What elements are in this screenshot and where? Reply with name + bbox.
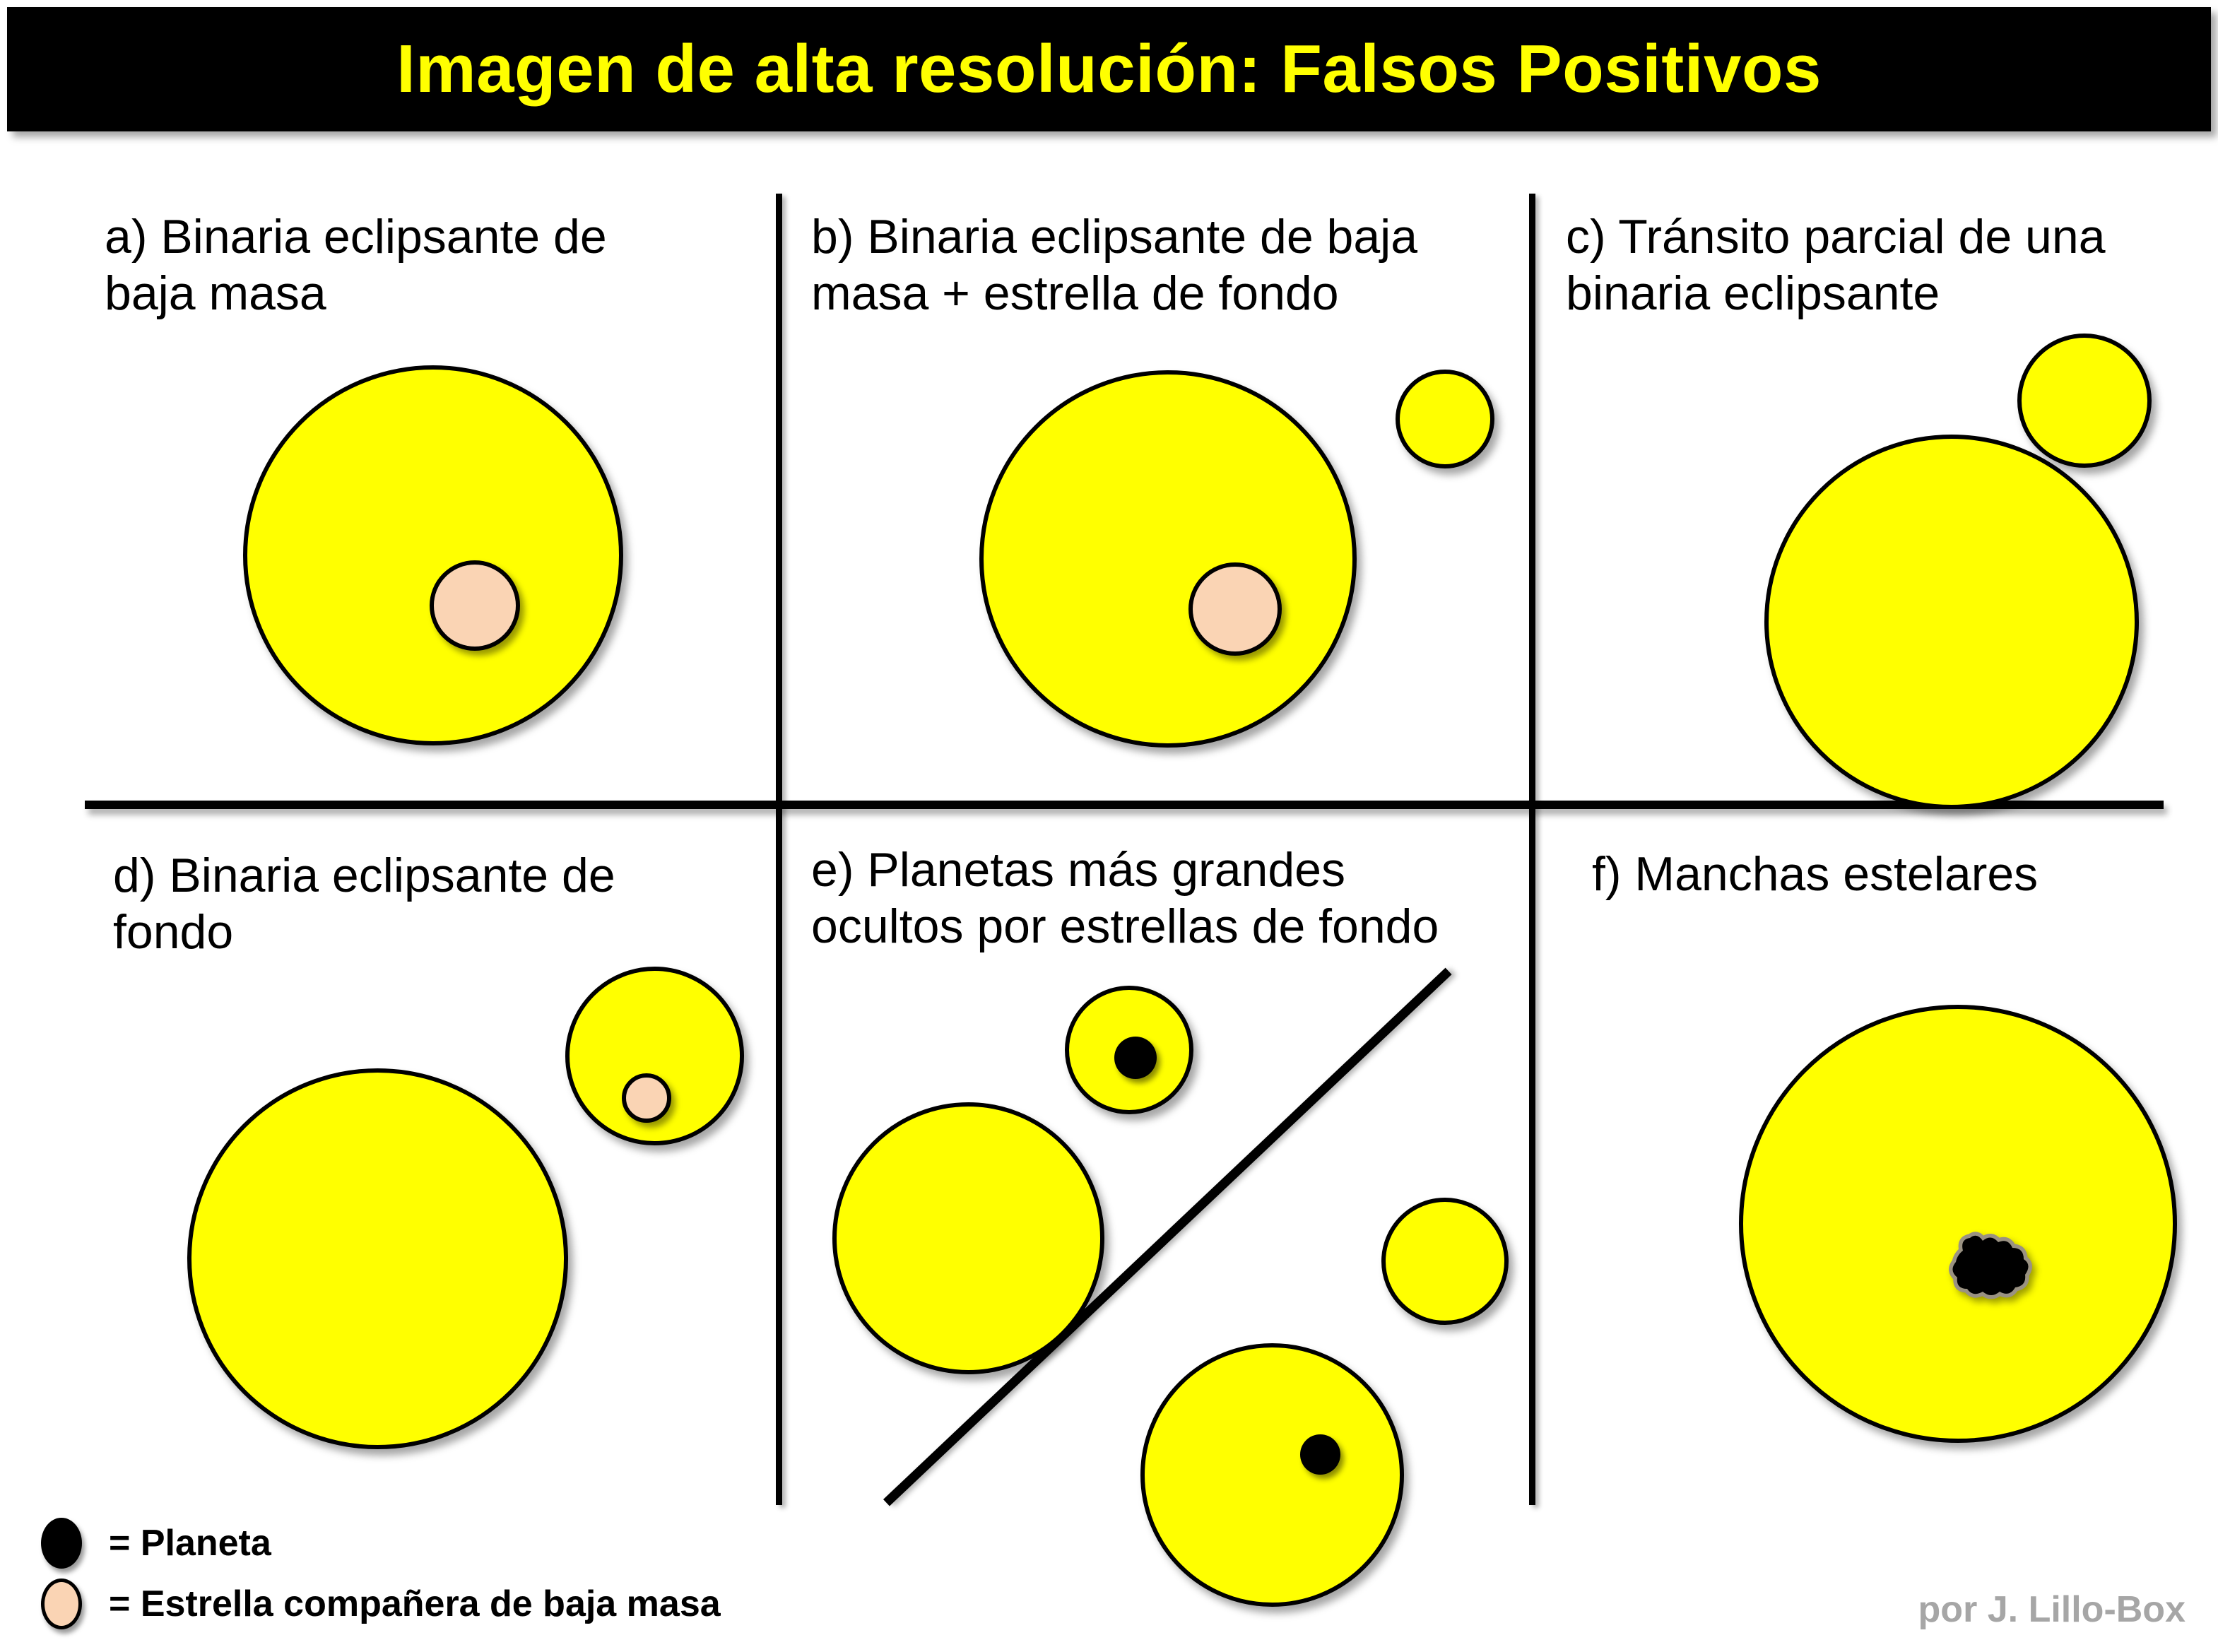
panel-e-planet-small [1114,1037,1157,1079]
legend-item-planet: = Planeta [41,1518,271,1569]
panel-b-caption: b) Binaria eclipsante de baja masa + est… [811,209,1475,321]
stellar-spot-icon [1936,1229,2042,1321]
panel-a-primary-star [243,365,623,745]
attribution-text: por J. Lillo-Box [1918,1588,2185,1631]
panel-d-low-mass-companion [622,1073,671,1123]
panel-b-low-mass-companion [1188,562,1282,656]
panel-a-caption: a) Binaria eclipsante de baja masa [105,209,741,321]
panel-c-transiting-companion-star [2017,334,2152,468]
title-banner: Imagen de alta resolución: Falsos Positi… [7,7,2211,131]
panel-e-resolved-star-small [1381,1198,1509,1325]
panel-e-star-with-planet-large [1140,1343,1404,1607]
divider-horizontal [85,801,2164,809]
panel-b-background-star [1396,370,1494,468]
panel-e-unresolved-star-large [832,1102,1104,1374]
panel-d-foreground-star [187,1068,568,1449]
legend-label-planet: = Planeta [109,1522,271,1564]
panel-e-planet-large [1300,1434,1340,1475]
panel-e-caption: e) Planetas más grandes ocultos por estr… [811,842,1518,955]
divider-vertical-left [776,194,782,1505]
panel-f-caption: f) Manchas estelares [1592,846,2218,903]
panel-c-primary-star [1764,435,2139,809]
panel-d-caption: d) Binaria eclipsante de fondo [113,848,749,960]
slide-canvas: Imagen de alta resolución: Falsos Positi… [0,0,2218,1652]
companion-star-swatch-icon [41,1579,82,1629]
panel-a-low-mass-companion [430,560,520,651]
legend-item-companion: = Estrella compañera de baja masa [41,1579,721,1629]
page-title: Imagen de alta resolución: Falsos Positi… [396,30,1822,108]
legend-label-companion: = Estrella compañera de baja masa [109,1583,721,1625]
planet-swatch-icon [41,1518,82,1569]
divider-vertical-right [1529,194,1535,1505]
panel-c-caption: c) Tránsito parcial de una binaria eclip… [1566,209,2216,321]
panel-f-spotted-star [1739,1005,2177,1443]
panel-b-primary-star [979,370,1357,748]
